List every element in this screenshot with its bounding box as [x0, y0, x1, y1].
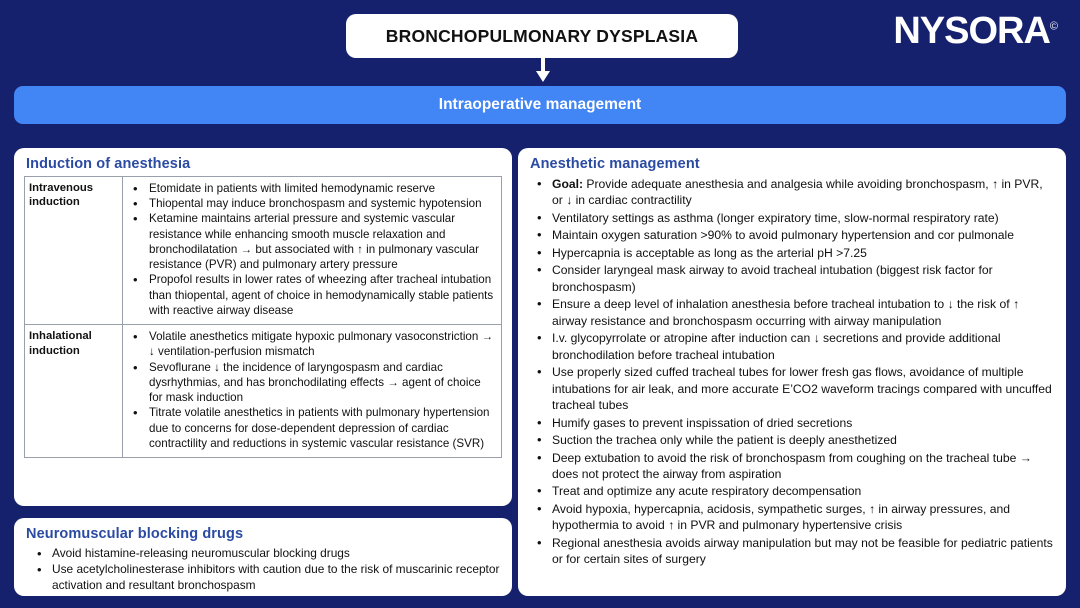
list-item: Etomidate in patients with limited hemod…: [127, 181, 497, 196]
nysora-logo: NYSORA©: [893, 12, 1058, 50]
bullet-list-neuromuscular: Avoid histamine-releasing neuromuscular …: [24, 546, 502, 593]
list-item: Ensure a deep level of inhalation anesth…: [528, 296, 1056, 329]
logo-text: NYSORA: [893, 10, 1050, 52]
panel-neuromuscular-blocking-drugs: Neuromuscular blocking drugs Avoid hista…: [14, 518, 512, 596]
list-item: Use properly sized cuffed tracheal tubes…: [528, 364, 1056, 413]
list-item: Volatile anesthetics mitigate hypoxic pu…: [127, 329, 497, 359]
panel-induction-of-anesthesia: Induction of anesthesia Intravenous indu…: [14, 148, 512, 506]
panel-anesthetic-management: Anesthetic management Goal: Provide adeq…: [518, 148, 1066, 596]
bullet-list-inhalational: Volatile anesthetics mitigate hypoxic pu…: [127, 329, 497, 451]
list-item: Avoid hypoxia, hypercapnia, acidosis, sy…: [528, 501, 1056, 534]
list-item: Goal: Provide adequate anesthesia and an…: [528, 176, 1056, 209]
list-item: Maintain oxygen saturation >90% to avoid…: [528, 227, 1056, 243]
list-item: Deep extubation to avoid the risk of bro…: [528, 450, 1056, 483]
induction-table: Intravenous induction Etomidate in patie…: [24, 176, 502, 458]
list-item-lead: Goal:: [552, 177, 583, 191]
list-item: Ketamine maintains arterial pressure and…: [127, 211, 497, 272]
list-item: Treat and optimize any acute respiratory…: [528, 483, 1056, 499]
list-item: Propofol results in lower rates of wheez…: [127, 272, 497, 318]
row-label-inhalational-induction: Inhalational induction: [25, 325, 123, 458]
row-body-intravenous-induction: Etomidate in patients with limited hemod…: [123, 177, 502, 325]
down-arrow-icon: [536, 58, 550, 82]
list-item: Hypercapnia is acceptable as long as the…: [528, 245, 1056, 261]
row-body-inhalational-induction: Volatile anesthetics mitigate hypoxic pu…: [123, 325, 502, 458]
list-item: Avoid histamine-releasing neuromuscular …: [24, 546, 502, 562]
list-item: Use acetylcholinesterase inhibitors with…: [24, 562, 502, 594]
list-item: Consider laryngeal mask airway to avoid …: [528, 262, 1056, 295]
copyright-icon: ©: [1050, 20, 1058, 32]
list-item: Thiopental may induce bronchospasm and s…: [127, 196, 497, 211]
list-item: Titrate volatile anesthetics in patients…: [127, 405, 497, 451]
table-row: Inhalational induction Volatile anesthet…: [25, 325, 502, 458]
list-item: I.v. glycopyrrolate or atropine after in…: [528, 330, 1056, 363]
band-label: Intraoperative management: [439, 96, 641, 114]
row-label-intravenous-induction: Intravenous induction: [25, 177, 123, 325]
list-item: Ventilatory settings as asthma (longer e…: [528, 210, 1056, 226]
table-row: Intravenous induction Etomidate in patie…: [25, 177, 502, 325]
list-item: Humify gases to prevent inspissation of …: [528, 415, 1056, 431]
heading-induction-of-anesthesia: Induction of anesthesia: [26, 156, 502, 172]
list-item: Suction the trachea only while the patie…: [528, 432, 1056, 448]
heading-neuromuscular-blocking-drugs: Neuromuscular blocking drugs: [26, 526, 502, 542]
section-band-intraoperative-management: Intraoperative management: [14, 86, 1066, 124]
bullet-list-anesthetic-management: Goal: Provide adequate anesthesia and an…: [528, 176, 1056, 568]
bullet-list-intravenous: Etomidate in patients with limited hemod…: [127, 181, 497, 318]
list-item-text: Provide adequate anesthesia and analgesi…: [552, 177, 1043, 207]
page-title-box: BRONCHOPULMONARY DYSPLASIA: [346, 14, 738, 58]
heading-anesthetic-management: Anesthetic management: [530, 156, 1056, 172]
page-title: BRONCHOPULMONARY DYSPLASIA: [386, 26, 698, 47]
list-item: Sevoflurane ↓ the incidence of laryngosp…: [127, 360, 497, 406]
list-item: Regional anesthesia avoids airway manipu…: [528, 535, 1056, 568]
